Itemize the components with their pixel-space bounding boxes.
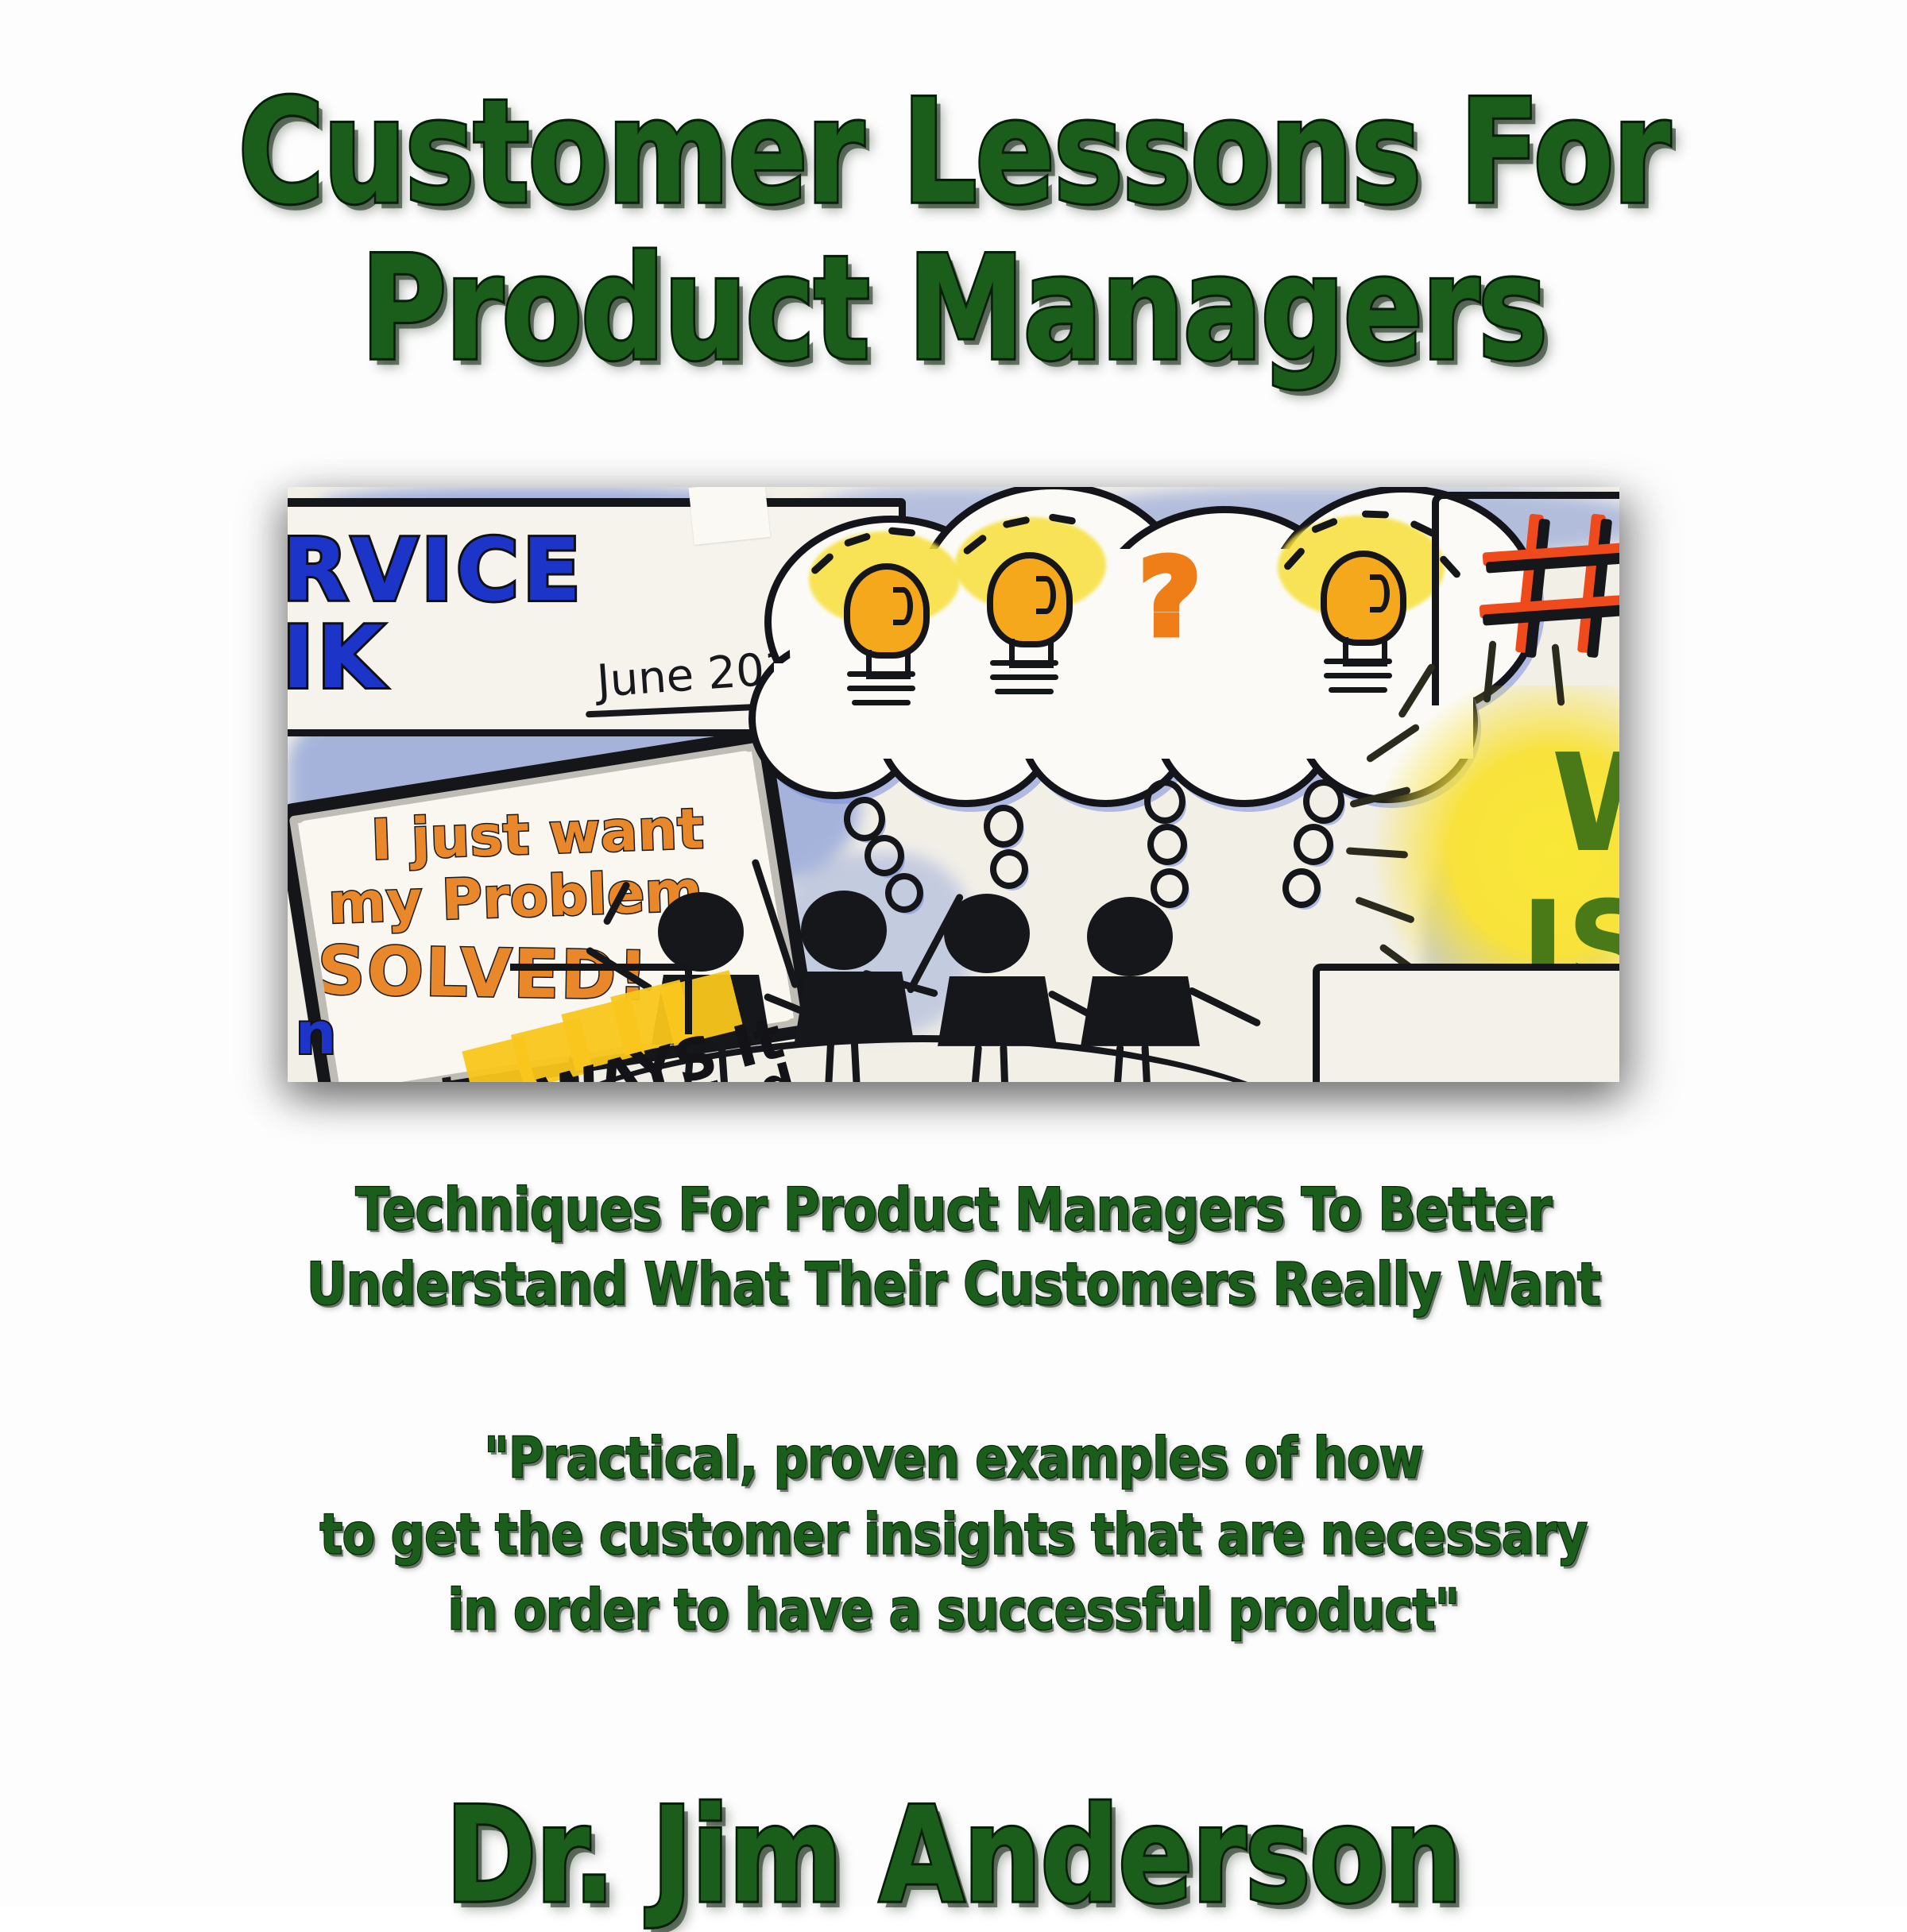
title-line-1: Customer Lessons For bbox=[0, 79, 1907, 226]
tape-icon bbox=[688, 487, 770, 545]
figure-head-icon bbox=[658, 892, 744, 972]
panel-word-2: IK bbox=[288, 609, 387, 708]
bulb-base-line bbox=[1324, 659, 1392, 664]
blue-fragment: n bbox=[296, 1000, 336, 1067]
quote-line-3: in order to have a successful product" bbox=[0, 1578, 1907, 1644]
lightbulb-icon bbox=[844, 563, 930, 659]
bulb-base-line bbox=[847, 671, 915, 677]
thought-bubble-icon bbox=[1144, 779, 1186, 824]
panel-word-1: RVICE bbox=[288, 521, 584, 620]
bulb-base-line bbox=[852, 700, 911, 705]
whiteboard-sketch: RVICE IK June 2012 I just want my Proble… bbox=[288, 487, 1619, 1083]
page-title: Customer Lessons For Product Managers bbox=[0, 79, 1907, 356]
figure-head-icon bbox=[944, 894, 1030, 973]
lightbulb-icon bbox=[1321, 551, 1406, 646]
figure-arm-icon bbox=[1187, 986, 1262, 1027]
green-word-1: W bbox=[1551, 725, 1619, 883]
thought-bubble-icon bbox=[990, 849, 1028, 889]
thought-bubble-icon bbox=[865, 835, 904, 876]
subtitle: Techniques For Product Managers To Bette… bbox=[0, 1176, 1907, 1308]
thought-bubble-icon bbox=[984, 805, 1023, 848]
cover-artwork-photo: RVICE IK June 2012 I just want my Proble… bbox=[288, 487, 1619, 1083]
thought-bubble-icon bbox=[1303, 779, 1344, 824]
bulb-filament-icon bbox=[1036, 576, 1056, 614]
title-line-2: Product Managers bbox=[0, 236, 1907, 382]
quote-line-2: to get the customer insights that are ne… bbox=[0, 1503, 1907, 1568]
thought-bubble-icon bbox=[1151, 868, 1189, 908]
thought-bubble-icon bbox=[885, 873, 923, 913]
bulb-base-line bbox=[995, 689, 1054, 694]
subtitle-line-2: Understand What Their Customers Really W… bbox=[0, 1250, 1907, 1318]
monitor-text-line-2: my Problem bbox=[327, 858, 704, 936]
book-cover: Customer Lessons For Product Managers RV… bbox=[0, 0, 1907, 1907]
bulb-ray-icon bbox=[1362, 510, 1389, 518]
author-name: Dr. Jim Anderson bbox=[0, 1779, 1907, 1932]
thought-bubble-icon bbox=[1282, 868, 1321, 908]
subtitle-line-1: Techniques For Product Managers To Bette… bbox=[0, 1176, 1907, 1243]
bulb-base-line bbox=[990, 674, 1058, 680]
bulb-filament-icon bbox=[893, 587, 913, 625]
cover-quote: "Practical, proven examples of how to ge… bbox=[0, 1427, 1907, 1634]
thought-bubble-icon bbox=[844, 797, 885, 841]
bulb-base-line bbox=[847, 686, 915, 691]
hash-symbol-icon bbox=[1487, 511, 1619, 662]
bulb-base-line bbox=[1324, 673, 1392, 678]
left-stub-outline bbox=[510, 964, 692, 1034]
author: Dr. Jim Anderson bbox=[0, 1779, 1907, 1907]
figure-head-icon bbox=[1087, 897, 1173, 976]
figure-head-icon bbox=[801, 891, 887, 970]
bulb-filament-icon bbox=[1370, 574, 1390, 612]
bottom-box-outline bbox=[1313, 964, 1619, 1083]
thought-bubble-icon bbox=[1147, 824, 1187, 865]
lightbulb-icon bbox=[987, 552, 1073, 647]
figure-torso-icon bbox=[1081, 976, 1200, 1046]
question-mark-icon: ? bbox=[1139, 546, 1201, 651]
quote-line-1: "Practical, proven examples of how bbox=[0, 1427, 1907, 1492]
bulb-base-line bbox=[990, 660, 1058, 666]
thought-bubble-icon bbox=[1294, 824, 1333, 865]
